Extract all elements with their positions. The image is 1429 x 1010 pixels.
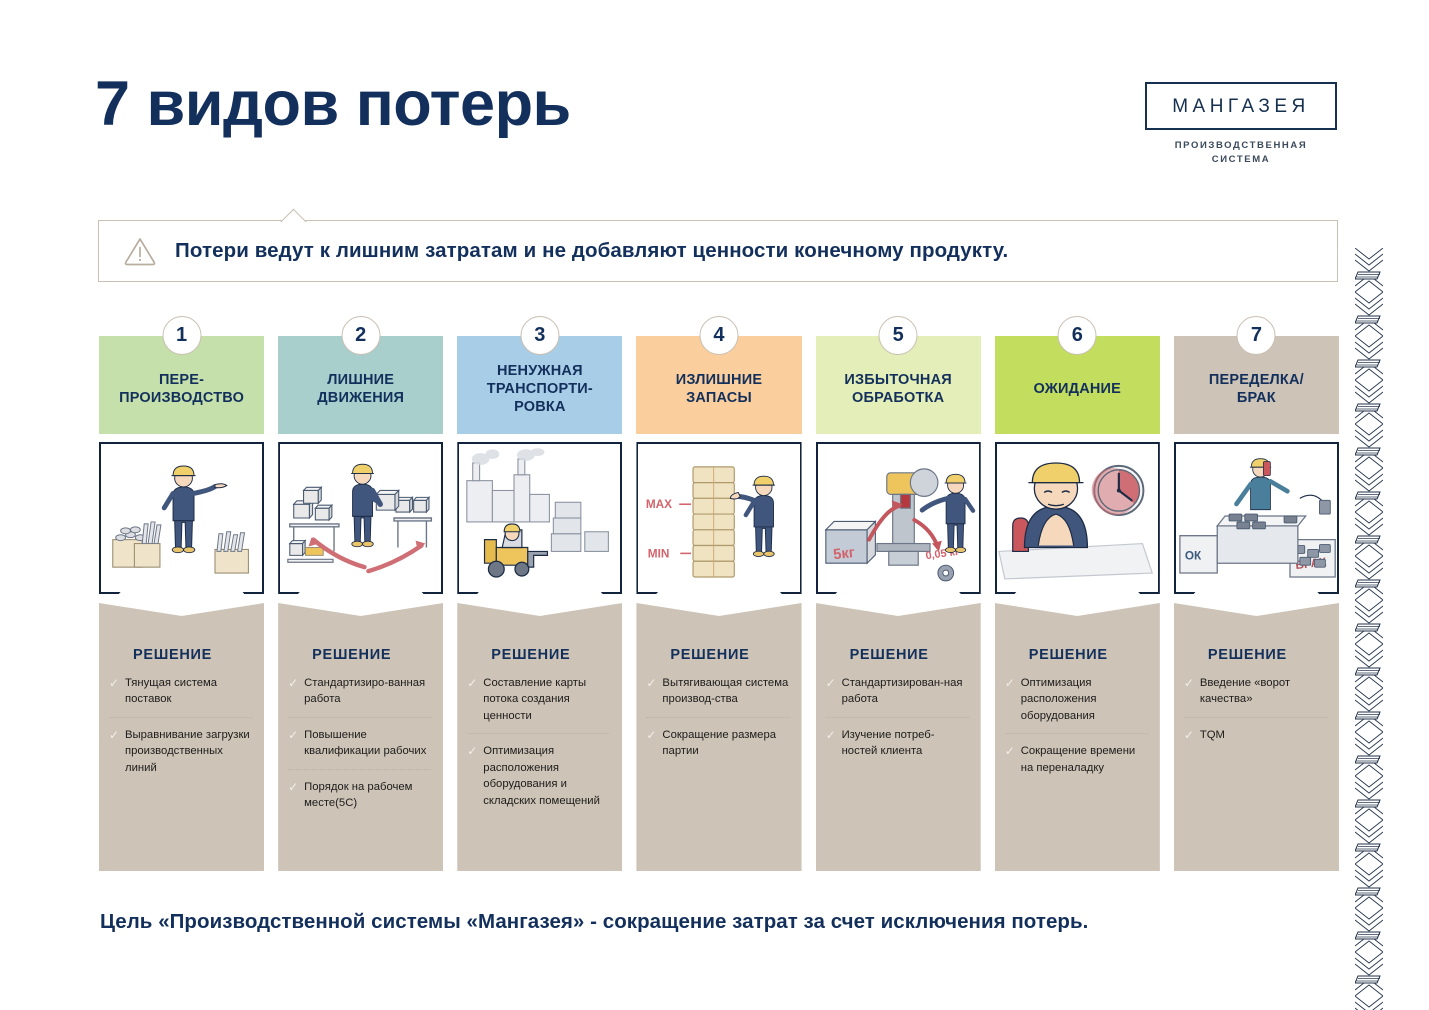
solution-list: ✓Введение «ворот качества»✓TQM [1184, 675, 1327, 753]
solution-title: РЕШЕНИЕ [312, 647, 431, 663]
column-number-badge: 2 [341, 316, 380, 355]
solution-item: ✓Выравнивание загрузки производственных … [109, 727, 252, 785]
check-icon: ✓ [1184, 675, 1200, 708]
solution-item: ✓Составление карты потока создания ценно… [467, 675, 610, 734]
illustration-idle-worker-waiting-with-clock [995, 442, 1160, 594]
solution-item: ✓Порядок на рабочем месте(5С) [288, 779, 431, 821]
svg-text:ОК: ОК [1185, 549, 1202, 562]
solution-panel: РЕШЕНИЕ✓Составление карты потока создани… [457, 603, 622, 871]
check-icon: ✓ [1005, 675, 1021, 724]
alert-notch [277, 208, 317, 222]
solution-panel: РЕШЕНИЕ✓Стандартизиро-ванная работа✓Повы… [278, 603, 443, 871]
illustration-forklift-transporting-pallets-near-factory [457, 442, 622, 594]
solution-text: Вытягивающая система производ-ства [662, 675, 789, 708]
solution-item: ✓Стандартизирован-ная работа [826, 675, 969, 718]
waste-column-1: 1ПЕРЕ-ПРОИЗВОДСТВО РЕШЕНИЕ✓Тянущая систе… [99, 316, 264, 871]
check-icon: ✓ [288, 675, 304, 708]
svg-text:MIN: MIN [648, 547, 670, 560]
solution-panel: РЕШЕНИЕ✓Введение «ворот качества»✓TQM [1174, 603, 1339, 871]
solution-text: Выравнивание загрузки производственных л… [125, 727, 252, 776]
solution-item: ✓Изучение потреб-ностей клиента [826, 727, 969, 769]
solution-text: Составление карты потока создания ценнос… [483, 675, 610, 724]
illustration-worker-at-milling-machine-material-waste: 5кг 0,05 кг [816, 442, 981, 594]
solution-text: TQM [1200, 727, 1225, 745]
footer-goal-text: Цель «Производственной системы «Мангазея… [100, 910, 1088, 934]
solution-panel: РЕШЕНИЕ✓Вытягивающая система производ-ст… [636, 603, 801, 871]
waste-columns: 1ПЕРЕ-ПРОИЗВОДСТВО РЕШЕНИЕ✓Тянущая систе… [99, 316, 1339, 871]
solution-text: Порядок на рабочем месте(5С) [304, 779, 431, 812]
solution-item: ✓Стандартизиро-ванная работа [288, 675, 431, 718]
solution-text: Сокращение размера партии [662, 727, 789, 760]
logo-name: МАНГАЗЕЯ [1145, 82, 1337, 130]
illustration-art [278, 442, 443, 594]
check-icon: ✓ [1005, 743, 1021, 776]
solution-list: ✓Тянущая система поставок✓Выравнивание з… [109, 675, 252, 785]
category-label: ОЖИДАНИЕ [1033, 381, 1121, 399]
illustration-art [995, 442, 1160, 594]
solution-text: Оптимизация расположения оборудования [1021, 675, 1148, 724]
check-icon: ✓ [1184, 727, 1200, 745]
solution-panel: РЕШЕНИЕ✓Тянущая система поставок✓Выравни… [99, 603, 264, 871]
warning-triangle-icon [123, 235, 157, 267]
illustration-worker-standing-by-surplus-parts-bins [99, 442, 264, 594]
solution-text: Введение «ворот качества» [1200, 675, 1327, 708]
waste-column-6: 6ОЖИДАНИЕ РЕШЕНИЕ✓Оптимизация расположен… [995, 316, 1160, 871]
waste-column-4: 4ИЗЛИШНИЕЗАПАСЫ MAX MIN РЕШЕНИЕ✓Вытягива… [636, 316, 801, 871]
illustration-worker-sorting-parts-into-ok-and-defect-boxes: ОК БРАК [1174, 442, 1339, 594]
check-icon: ✓ [467, 675, 483, 724]
alert-text: Потери ведут к лишним затратам и не доба… [175, 239, 1008, 263]
brand-logo: МАНГАЗЕЯ ПРОИЗВОДСТВЕННАЯ СИСТЕМА [1145, 82, 1337, 167]
solution-text: Оптимизация расположения оборудования и … [483, 743, 610, 809]
solution-list: ✓Оптимизация расположения оборудования✓С… [1005, 675, 1148, 785]
solution-text: Стандартизирован-ная работа [842, 675, 969, 708]
solution-text: Тянущая система поставок [125, 675, 252, 708]
check-icon: ✓ [826, 675, 842, 708]
solution-item: ✓TQM [1184, 727, 1327, 754]
logo-subtitle-line2: СИСТЕМА [1145, 153, 1337, 167]
solution-text: Сокращение времени на переналадку [1021, 743, 1148, 776]
solution-list: ✓Вытягивающая система производ-ства✓Сокр… [646, 675, 789, 769]
category-label: ПЕРЕ-ПРОИЗВОДСТВО [119, 372, 244, 407]
category-label: ПЕРЕДЕЛКА/БРАК [1209, 372, 1304, 407]
check-icon: ✓ [109, 727, 125, 776]
infographic-page: 7 видов потерь МАНГАЗЕЯ ПРОИЗВОДСТВЕННАЯ… [0, 0, 1429, 1010]
solution-title: РЕШЕНИЕ [133, 647, 252, 663]
check-icon: ✓ [646, 727, 662, 760]
alert-banner: Потери ведут к лишним затратам и не доба… [98, 220, 1338, 282]
check-icon: ✓ [288, 727, 304, 760]
illustration-art: MAX MIN [636, 442, 801, 594]
illustration-art: ОК БРАК [1174, 442, 1339, 594]
waste-column-2: 2ЛИШНИЕДВИЖЕНИЯ РЕШЕНИЕ✓Станд [278, 316, 443, 871]
column-number-badge: 3 [520, 316, 559, 355]
solution-item: ✓Оптимизация расположения оборудования [1005, 675, 1148, 734]
solution-item: ✓Вытягивающая система производ-ства [646, 675, 789, 718]
solution-panel: РЕШЕНИЕ✓Оптимизация расположения оборудо… [995, 603, 1160, 871]
solution-text: Повышение квалификации рабочих [304, 727, 431, 760]
check-icon: ✓ [646, 675, 662, 708]
waste-column-3: 3НЕНУЖНАЯТРАНСПОРТИ-РОВКА РЕШЕНИЕ✓Состав… [457, 316, 622, 871]
solution-item: ✓Оптимизация расположения оборудования и… [467, 743, 610, 818]
column-number-badge: 6 [1058, 316, 1097, 355]
braid-pattern-decoration [1355, 248, 1383, 1010]
solution-list: ✓Стандартизиро-ванная работа✓Повышение к… [288, 675, 431, 821]
svg-text:5кг: 5кг [832, 545, 855, 563]
solution-title: РЕШЕНИЕ [670, 647, 789, 663]
solution-item: ✓Сокращение времени на переналадку [1005, 743, 1148, 785]
illustration-art [99, 442, 264, 594]
check-icon: ✓ [109, 675, 125, 708]
category-label: ИЗЛИШНИЕЗАПАСЫ [676, 372, 762, 407]
illustration-worker-beside-tall-stack-of-boxes: MAX MIN [636, 442, 801, 594]
column-number-badge: 4 [699, 316, 738, 355]
category-label: НЕНУЖНАЯТРАНСПОРТИ-РОВКА [487, 363, 593, 416]
solution-title: РЕШЕНИЕ [850, 647, 969, 663]
category-label: ЛИШНИЕДВИЖЕНИЯ [317, 372, 404, 407]
solution-item: ✓Тянущая система поставок [109, 675, 252, 718]
solution-list: ✓Стандартизирован-ная работа✓Изучение по… [826, 675, 969, 769]
illustration-art: 5кг 0,05 кг [816, 442, 981, 594]
solution-title: РЕШЕНИЕ [1029, 647, 1148, 663]
illustration-art [457, 442, 622, 594]
logo-subtitle-line1: ПРОИЗВОДСТВЕННАЯ [1145, 139, 1337, 153]
column-number-badge: 5 [879, 316, 918, 355]
solution-list: ✓Составление карты потока создания ценно… [467, 675, 610, 818]
page-title: 7 видов потерь [95, 68, 571, 140]
logo-subtitle: ПРОИЗВОДСТВЕННАЯ СИСТЕМА [1145, 139, 1337, 167]
illustration-worker-walking-between-tables-with-box [278, 442, 443, 594]
solution-title: РЕШЕНИЕ [1208, 647, 1327, 663]
svg-text:MAX: MAX [646, 498, 672, 511]
check-icon: ✓ [288, 779, 304, 812]
column-number-badge: 1 [162, 316, 201, 355]
check-icon: ✓ [826, 727, 842, 760]
category-label: ИЗБЫТОЧНАЯОБРАБОТКА [844, 372, 951, 407]
solution-panel: РЕШЕНИЕ✓Стандартизирован-ная работа✓Изуч… [816, 603, 981, 871]
solution-item: ✓Повышение квалификации рабочих [288, 727, 431, 770]
solution-title: РЕШЕНИЕ [491, 647, 610, 663]
solution-text: Изучение потреб-ностей клиента [842, 727, 969, 760]
check-icon: ✓ [467, 743, 483, 809]
column-number-badge: 7 [1237, 316, 1276, 355]
solution-item: ✓Введение «ворот качества» [1184, 675, 1327, 718]
solution-item: ✓Сокращение размера партии [646, 727, 789, 769]
waste-column-5: 5ИЗБЫТОЧНАЯОБРАБОТКА 5кг 0,05 кг [816, 316, 981, 871]
solution-text: Стандартизиро-ванная работа [304, 675, 431, 708]
waste-column-7: 7ПЕРЕДЕЛКА/БРАК ОК БРАК РЕШЕНИЕ✓Введение… [1174, 316, 1339, 871]
